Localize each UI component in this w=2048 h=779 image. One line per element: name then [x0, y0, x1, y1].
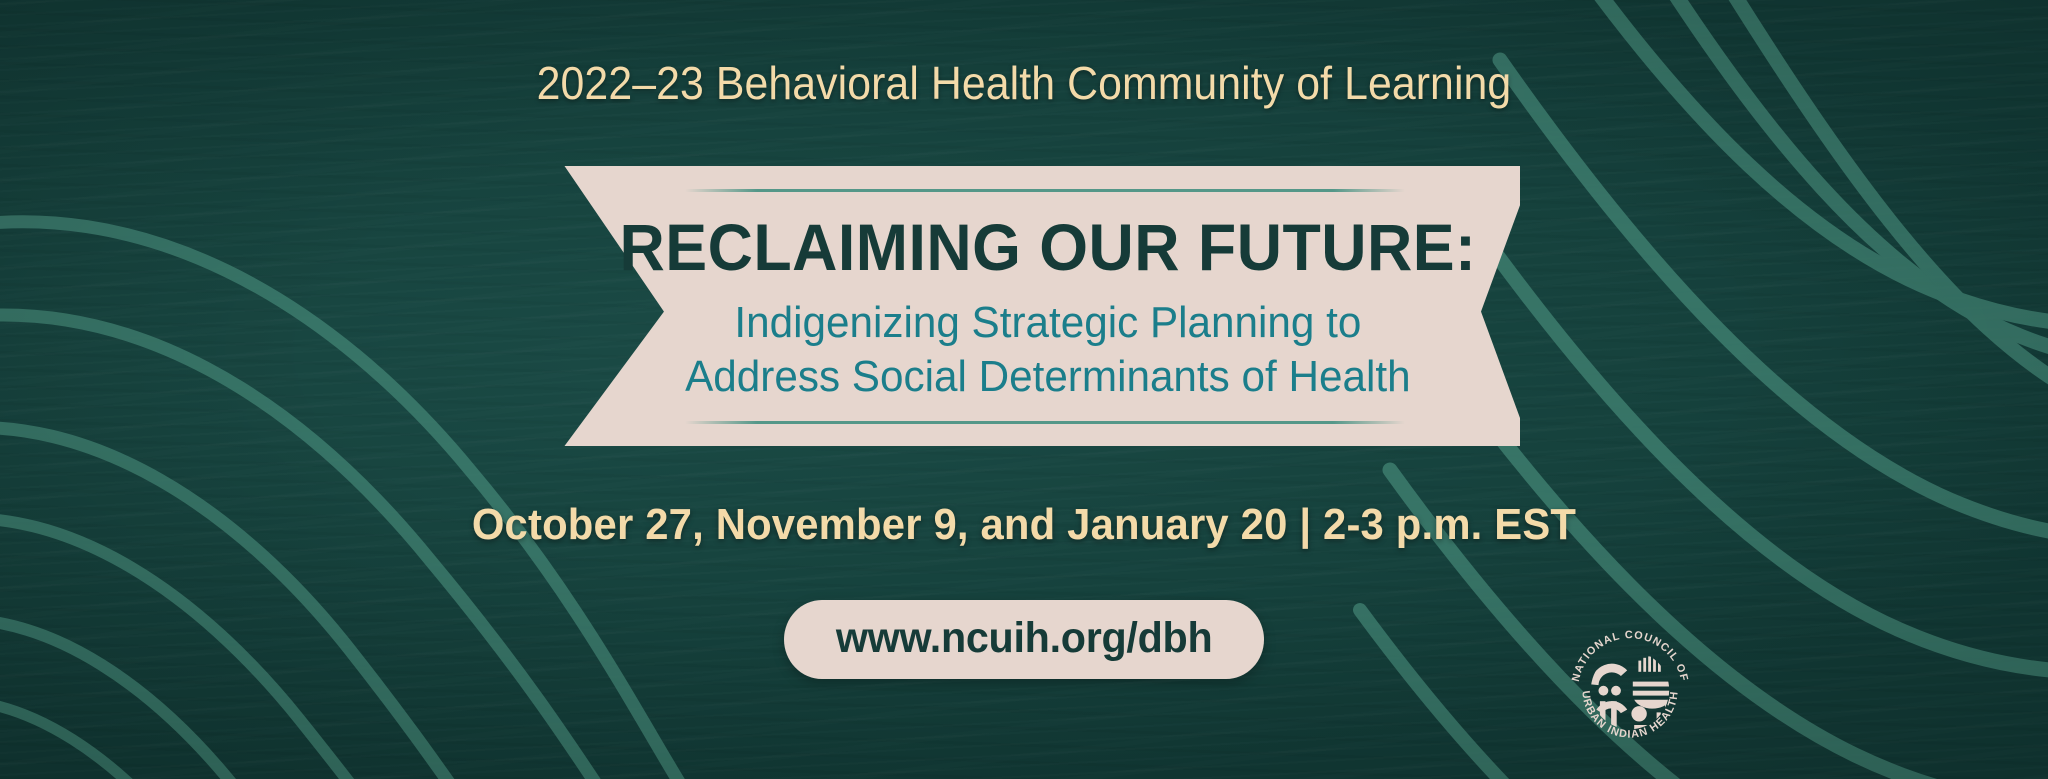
- ncuih-logo[interactable]: NATIONAL COUNCIL OF URBAN INDIAN HEALTH: [1560, 620, 1700, 760]
- promo-banner: 2022–23 Behavioral Health Community of L…: [0, 0, 2048, 779]
- plaque-rule-bottom: [685, 421, 1405, 424]
- page-subtitle-line-2: Address Social Determinants of Health: [685, 350, 1410, 404]
- logo-arc-bottom-text: URBAN INDIAN HEALTH: [1579, 690, 1681, 741]
- event-series-kicker: 2022–23 Behavioral Health Community of L…: [72, 56, 1977, 110]
- ncuih-seal-icon: NATIONAL COUNCIL OF URBAN INDIAN HEALTH: [1560, 620, 1700, 760]
- url-pill-row: www.ncuih.org/dbh: [0, 600, 2048, 679]
- page-subtitle: Indigenizing Strategic Planning to Addre…: [685, 296, 1410, 403]
- title-plaque: RECLAIMING OUR FUTURE: Indigenizing Stra…: [545, 166, 1520, 446]
- website-url-button[interactable]: www.ncuih.org/dbh: [784, 600, 1264, 679]
- svg-text:NATIONAL COUNCIL OF: NATIONAL COUNCIL OF: [1570, 629, 1690, 683]
- svg-text:URBAN INDIAN HEALTH: URBAN INDIAN HEALTH: [1579, 690, 1681, 741]
- page-subtitle-line-1: Indigenizing Strategic Planning to: [685, 296, 1410, 350]
- plaque-rule-top: [685, 189, 1405, 192]
- page-title: RECLAIMING OUR FUTURE:: [619, 214, 1476, 280]
- logo-arc-top-text: NATIONAL COUNCIL OF: [1570, 629, 1690, 683]
- session-dates-and-time: October 27, November 9, and January 20 |…: [51, 500, 1997, 550]
